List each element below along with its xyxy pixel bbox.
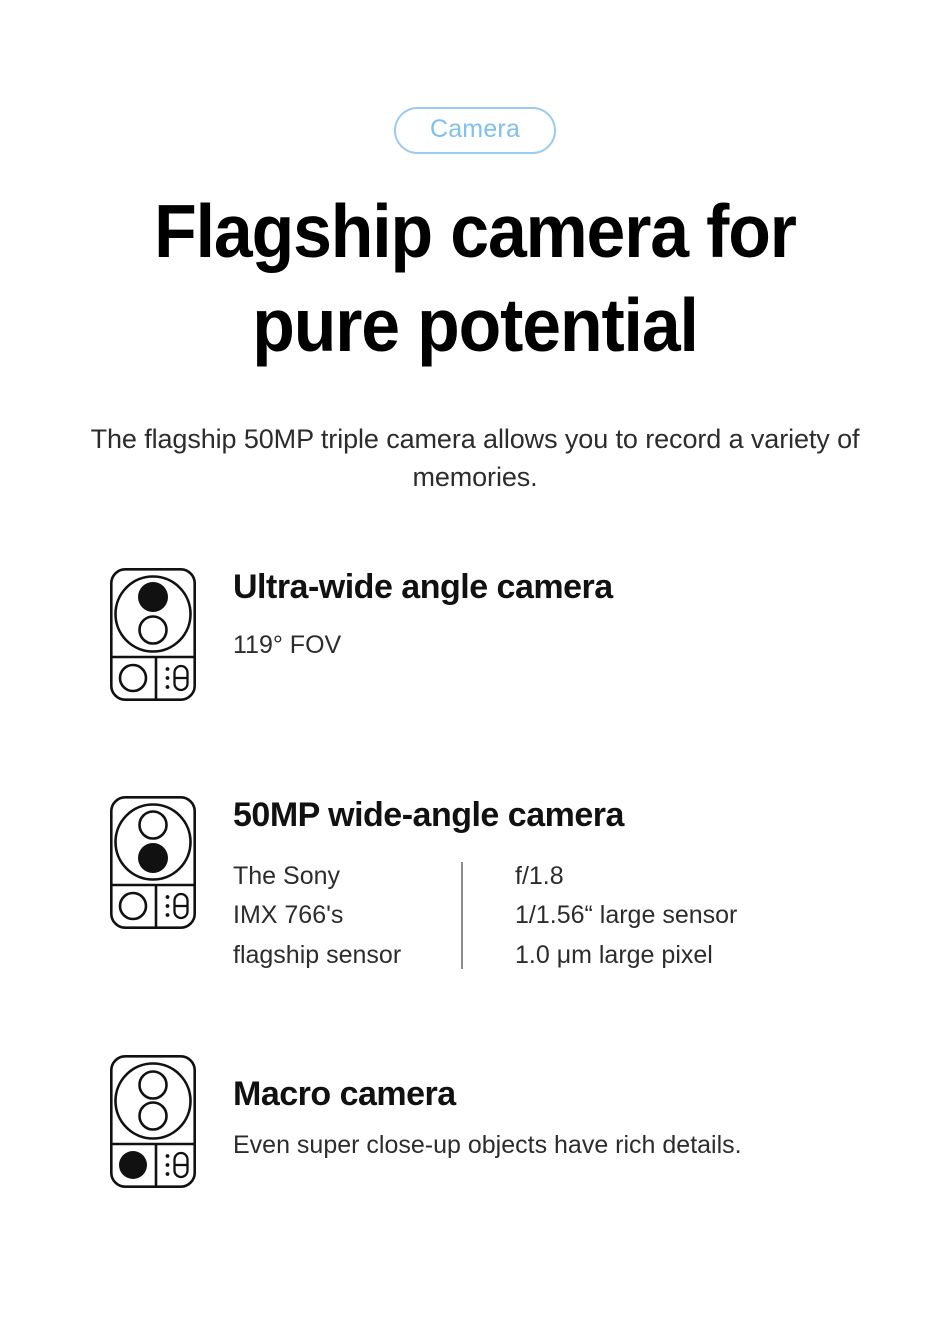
badge-row: Camera (0, 0, 950, 154)
feature-title: Macro camera (233, 1076, 742, 1113)
spec-grid: The Sony IMX 766's flagship sensor f/1.8… (233, 857, 737, 976)
feature-body-ultra-wide: Ultra-wide angle camera 119° FOV (233, 568, 613, 661)
feature-body-macro: Macro camera Even super close-up objects… (233, 1055, 742, 1162)
camera-module-macro-icon (110, 1055, 196, 1188)
spec-column-optics: f/1.8 1/1.56“ large sensor 1.0 μm large … (515, 857, 737, 976)
camera-module-wide-icon (110, 796, 196, 929)
page-subtitle: The flagship 50MP triple camera allows y… (80, 420, 870, 497)
camera-module-ultrawide-icon (110, 568, 196, 701)
feature-subtitle: 119° FOV (233, 629, 613, 662)
section-badge-camera: Camera (394, 107, 556, 154)
page-title: Flagship camera for pure potential (75, 185, 875, 373)
feature-title: Ultra-wide angle camera (233, 569, 613, 606)
feature-subtitle: Even super close-up objects have rich de… (233, 1129, 742, 1162)
feature-item-wide-angle: 50MP wide-angle camera The Sony IMX 766'… (0, 796, 950, 975)
spec-divider (461, 862, 463, 970)
spec-column-sensor: The Sony IMX 766's flagship sensor (233, 857, 461, 976)
page-title-line-1: Flagship camera for (75, 185, 875, 279)
feature-list: Ultra-wide angle camera 119° FOV 50M (0, 568, 950, 1188)
page-title-line-2: pure potential (75, 279, 875, 373)
feature-item-ultra-wide: Ultra-wide angle camera 119° FOV (0, 568, 950, 701)
feature-item-macro: Macro camera Even super close-up objects… (0, 1055, 950, 1188)
feature-title: 50MP wide-angle camera (233, 797, 737, 834)
feature-body-wide-angle: 50MP wide-angle camera The Sony IMX 766'… (233, 796, 737, 975)
